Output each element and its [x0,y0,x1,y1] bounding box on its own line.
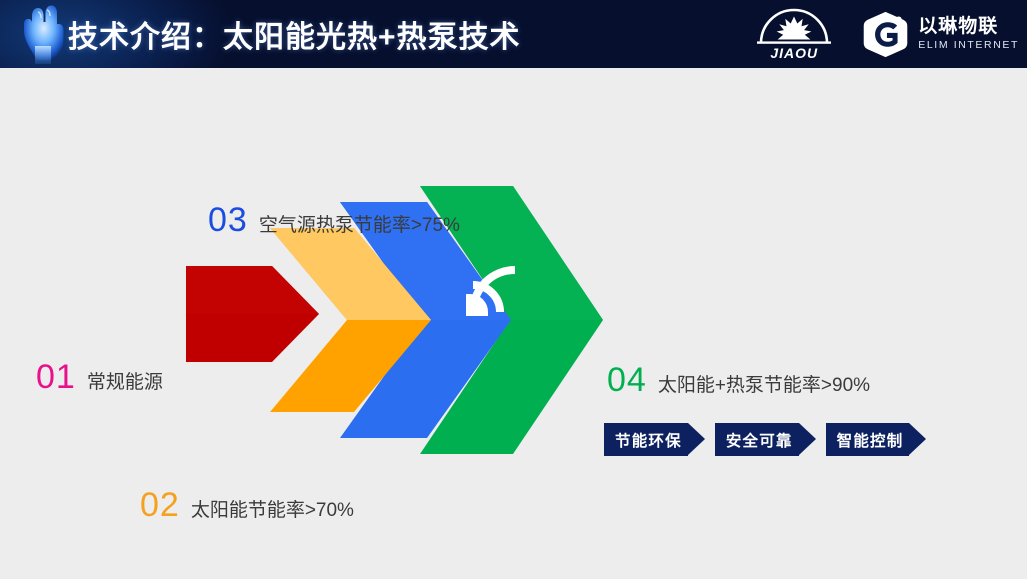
step-number-04: 04 [607,363,647,397]
step-number-02: 02 [140,488,180,522]
step-number-01: 01 [36,360,76,394]
step-number-03: 03 [208,203,248,237]
process-arrow-diagram: 01 常规能源 02 太阳能节能率>70% 03 空气源热泵节能率>75% 04… [0,68,1027,579]
step-text-01: 常规能源 [87,373,163,392]
step-label-01: 01 常规能源 [36,360,163,394]
step-label-02: 02 太阳能节能率>70% [140,488,354,522]
chevron-step-01[interactable] [186,266,322,362]
step-text-03: 空气源热泵节能率>75% [259,216,460,235]
badge-smart-control[interactable]: 智能控制 [826,423,910,456]
step-label-04: 04 太阳能+热泵节能率>90% [607,363,870,397]
logo-jiaou-wordmark: JIAOU [751,45,837,61]
header-logos: JIAOU 以琳物联 ELIM INTERNET [751,0,1019,68]
page-title: 技术介绍：太阳能光热+热泵技术 [68,0,521,68]
logo-elim-cn: 以琳物联 [918,17,1019,36]
step-text-02: 太阳能节能率>70% [191,501,354,520]
raised-fist-icon [14,2,72,66]
step-text-04: 太阳能+热泵节能率>90% [658,376,870,395]
feature-badges: 节能环保 安全可靠 智能控制 [604,423,926,456]
logo-elim-en: ELIM INTERNET [918,40,1019,51]
step-label-03: 03 空气源热泵节能率>75% [208,203,460,237]
g-hexagon-icon [861,10,910,59]
slide-canvas: 技术介绍：太阳能光热+热泵技术 JIAOU [0,0,1027,579]
badge-energy-saving[interactable]: 节能环保 [604,423,688,456]
sunrise-arch-icon [751,5,837,49]
logo-elim: 以琳物联 ELIM INTERNET [861,10,1019,59]
logo-jiaou: JIAOU [751,5,837,63]
wifi-signal-icon [466,263,522,319]
slide-header: 技术介绍：太阳能光热+热泵技术 JIAOU [0,0,1027,68]
badge-safe-reliable[interactable]: 安全可靠 [715,423,799,456]
